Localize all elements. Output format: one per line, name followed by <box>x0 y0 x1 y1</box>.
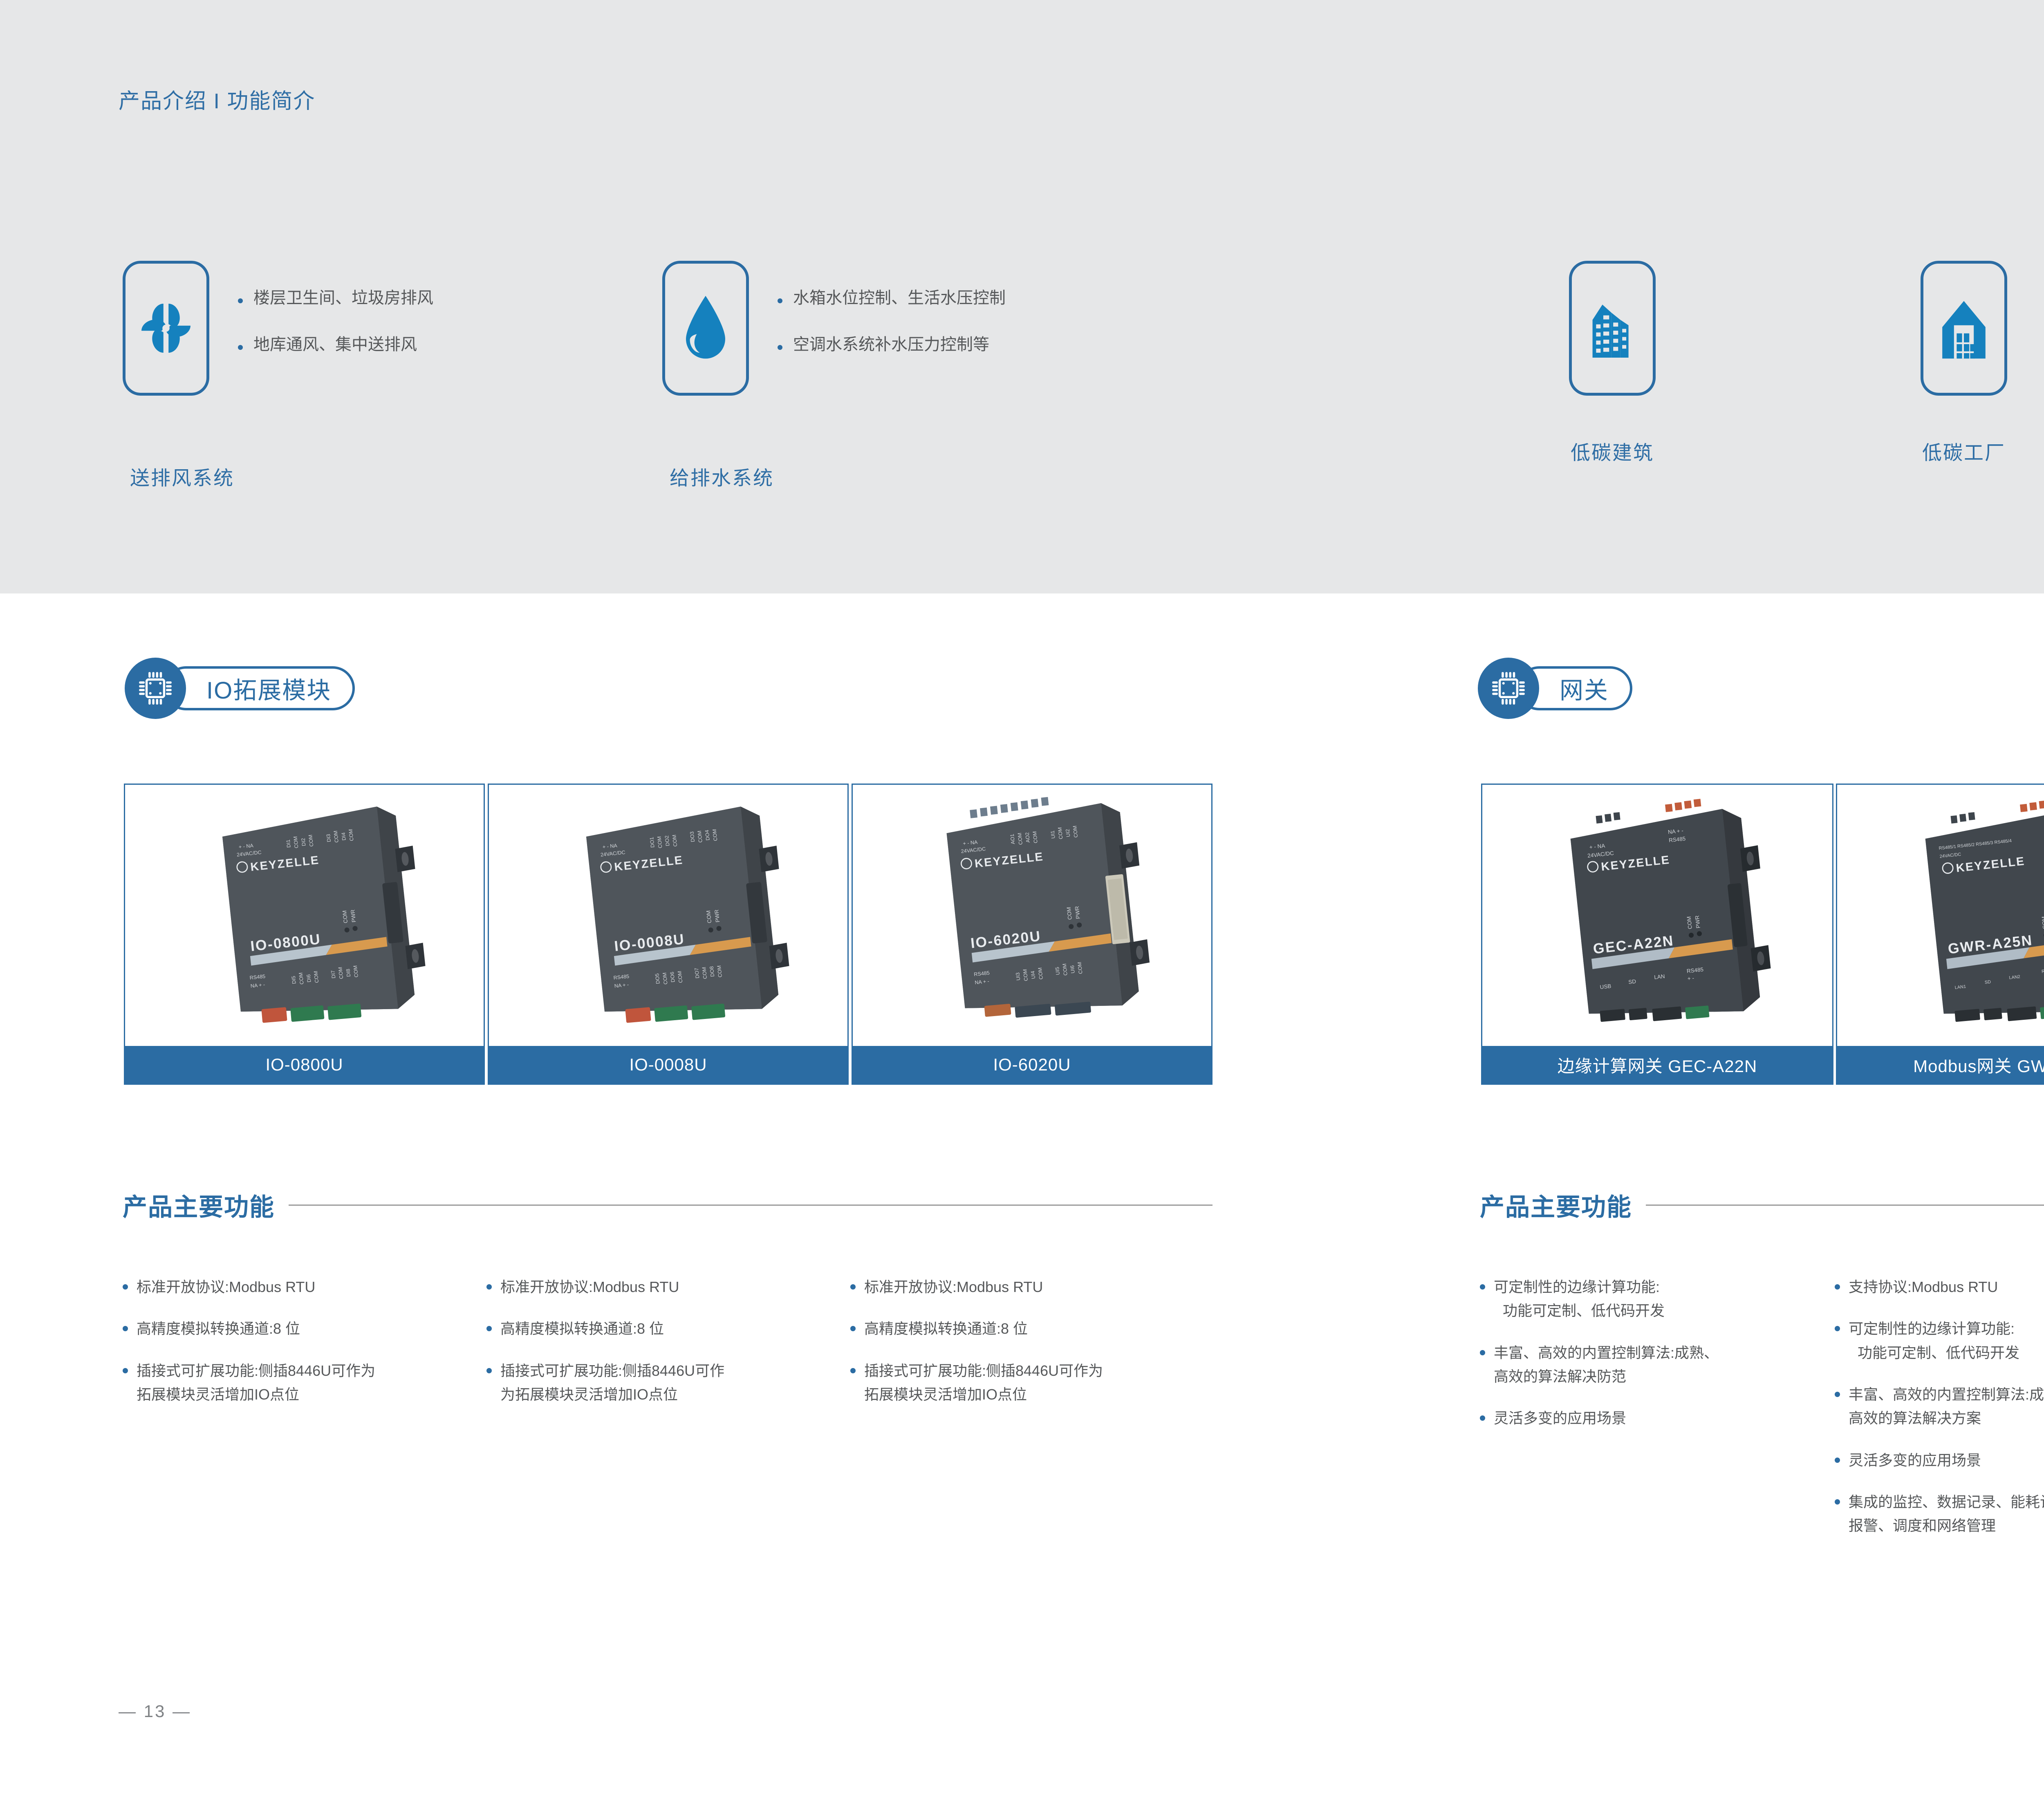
svg-text:COM: COM <box>313 971 320 983</box>
list-item: 高精度模拟转换通道:8 位 <box>123 1317 466 1341</box>
product-image: + - NA24VAC/DC DI1 COM DI2 COM DI3 COM D… <box>125 785 484 1046</box>
svg-text:DO7: DO7 <box>694 967 701 978</box>
svg-text:DI6: DI6 <box>306 974 312 983</box>
list-item: 丰富、高效的内置控制算法:成熟、 高效的算法解决方案 <box>1835 1383 2044 1431</box>
svg-text:COM: COM <box>293 836 300 849</box>
product-label: IO-6020U <box>853 1046 1211 1084</box>
list-item: 丰富、高效的内置控制算法:成熟、 高效的算法解决防范 <box>1480 1341 1815 1389</box>
list-item: 插接式可扩展功能:侧插8446U可作 为拓展模块灵活增加IO点位 <box>486 1359 830 1407</box>
section-badge-label: IO拓展模块 <box>206 671 331 705</box>
list-item: 高精度模拟转换通道:8 位 <box>486 1317 830 1341</box>
device-io-0008u: + - NA24VAC/DC DO1 COM DO2 COM DO3 COM D… <box>489 785 847 1046</box>
svg-text:DI5: DI5 <box>291 976 297 984</box>
svg-text:COM: COM <box>337 967 344 979</box>
product-label: IO-0008U <box>489 1046 847 1084</box>
svg-text:DO3: DO3 <box>689 831 696 842</box>
list-item: 插接式可扩展功能:侧插8446U可作为 拓展模块灵活增加IO点位 <box>850 1359 1194 1407</box>
svg-text:COM: COM <box>705 910 713 924</box>
list-item: 水箱水位控制、生活水压控制 <box>778 289 1006 307</box>
svg-text:COM: COM <box>701 967 708 979</box>
scenario-low-carbon-building: 低碳建筑 <box>1569 261 1656 465</box>
svg-text:DO2: DO2 <box>664 835 671 846</box>
svg-text:COM: COM <box>333 830 340 843</box>
svg-text:DI1: DI1 <box>285 840 292 848</box>
svg-text:COM: COM <box>1022 969 1029 981</box>
svg-text:UI3: UI3 <box>1015 972 1021 981</box>
svg-text:AO1: AO1 <box>1009 834 1016 845</box>
svg-text:COM: COM <box>662 972 669 985</box>
list-item: 楼层卫生间、垃圾房排风 <box>238 289 433 307</box>
application-group-ventilation: 楼层卫生间、垃圾房排风 地库通风、集中送排风 <box>123 261 433 396</box>
list-item: 支持协议:Modbus RTU <box>1835 1275 2044 1299</box>
svg-text:UI6: UI6 <box>1069 965 1076 974</box>
svg-text:COM: COM <box>677 971 684 983</box>
svg-text:COM: COM <box>352 965 359 978</box>
features-heading-io: 产品主要功能 <box>123 1187 1213 1223</box>
list-item: 可定制性的边缘计算功能: 功能可定制、低代码开发 <box>1480 1275 1815 1323</box>
device-gec-a22n: + - NA24VAC/DC NA + -RS485 USBSD LANRS48… <box>1482 785 1832 1046</box>
product-card[interactable]: + - NA24VAC/DC NA + -RS485 USBSD LANRS48… <box>1481 784 1833 1085</box>
svg-text:DI2: DI2 <box>300 838 307 846</box>
scenario-low-carbon-factory: 低碳工厂 <box>1921 261 2007 465</box>
product-image: + - NA24VAC/DC DO1 COM DO2 COM DO3 COM D… <box>489 785 847 1046</box>
svg-text:COM: COM <box>1066 907 1073 920</box>
feature-column-io-1: 标准开放协议:Modbus RTU 高精度模拟转换通道:8 位 插接式可扩展功能… <box>123 1275 466 1406</box>
product-card[interactable]: RS485/1 RS485/2 RS485/3 RS485/4 24VAC/DC… <box>1836 784 2044 1085</box>
factory-icon <box>1937 295 1991 362</box>
factory-icon-frame <box>1921 261 2007 396</box>
svg-text:COM: COM <box>712 829 719 842</box>
section-badge-gateway: 网关 <box>1478 650 1632 727</box>
product-label: IO-0800U <box>125 1046 484 1084</box>
product-image: + - NA24VAC/DC AO1 COM AO2 COM UI1 COM U… <box>853 785 1211 1046</box>
heading-rule <box>289 1205 1213 1206</box>
svg-text:+ -: + - <box>1687 975 1694 982</box>
svg-text:USB: USB <box>1600 983 1611 990</box>
svg-text:PWR: PWR <box>1074 906 1081 919</box>
svg-text:PWR: PWR <box>350 909 357 923</box>
list-item: 高精度模拟转换通道:8 位 <box>850 1317 1194 1341</box>
svg-text:COM: COM <box>1037 967 1044 980</box>
features-title: 产品主要功能 <box>1480 1187 1632 1223</box>
fan-icon <box>135 298 197 359</box>
office-building-icon-frame <box>1569 261 1656 396</box>
svg-text:COM: COM <box>307 834 314 847</box>
svg-text:UI5: UI5 <box>1054 967 1061 975</box>
feature-column-gateway-2: 支持协议:Modbus RTU 可定制性的边缘计算功能: 功能可定制、低代码开发… <box>1835 1275 2044 1538</box>
section-badge-io: IO拓展模块 <box>125 650 355 727</box>
chip-icon-circle <box>1478 658 1539 719</box>
svg-text:RS485: RS485 <box>2042 968 2044 974</box>
svg-text:AO2: AO2 <box>1024 832 1031 843</box>
device-io-0800u: + - NA24VAC/DC DI1 COM DI2 COM DI3 COM D… <box>125 785 484 1046</box>
product-image: + - NA24VAC/DC NA + -RS485 USBSD LANRS48… <box>1482 785 1832 1046</box>
svg-text:COM: COM <box>671 834 678 847</box>
list-item: 标准开放协议:Modbus RTU <box>850 1275 1194 1299</box>
office-building-icon <box>1585 295 1639 362</box>
svg-text:DI7: DI7 <box>330 970 336 978</box>
feature-column-io-2: 标准开放协议:Modbus RTU 高精度模拟转换通道:8 位 插接式可扩展功能… <box>486 1275 830 1406</box>
device-io-6020u: + - NA24VAC/DC AO1 COM AO2 COM UI1 COM U… <box>853 785 1211 1046</box>
water-drop-icon-frame <box>662 261 749 396</box>
product-card[interactable]: + - NA24VAC/DC AO1 COM AO2 COM UI1 COM U… <box>852 784 1213 1085</box>
svg-text:SD: SD <box>1628 978 1636 985</box>
heading-rule <box>1646 1205 2044 1206</box>
list-item: 灵活多变的应用场景 <box>1480 1406 1815 1430</box>
svg-text:COM: COM <box>1072 825 1079 838</box>
catalog-spread: 产品介绍 I 功能简介 产品介绍 I 功能简介 楼层卫生间、垃圾房排风 地库通风… <box>0 0 2044 1798</box>
feature-column-gateway-1: 可定制性的边缘计算功能: 功能可定制、低代码开发 丰富、高效的内置控制算法:成熟… <box>1480 1275 1815 1431</box>
water-drop-icon <box>681 294 730 363</box>
product-card[interactable]: + - NA24VAC/DC DO1 COM DO2 COM DO3 COM D… <box>488 784 849 1085</box>
svg-text:PWR: PWR <box>1694 915 1701 929</box>
feature-column-io-3: 标准开放协议:Modbus RTU 高精度模拟转换通道:8 位 插接式可扩展功能… <box>850 1275 1194 1406</box>
features-title: 产品主要功能 <box>123 1187 275 1223</box>
section-badge-pill: IO拓展模块 <box>164 666 355 710</box>
water-caption: 给排水系统 <box>670 462 774 490</box>
svg-text:LAN: LAN <box>1654 973 1665 981</box>
svg-text:COM: COM <box>1032 831 1039 844</box>
product-image: RS485/1 RS485/2 RS485/3 RS485/4 24VAC/DC… <box>1837 785 2044 1046</box>
product-label: 边缘计算网关 GEC-A22N <box>1482 1046 1832 1084</box>
svg-text:UI1: UI1 <box>1050 830 1056 839</box>
svg-text:UI4: UI4 <box>1030 971 1036 979</box>
svg-text:DO6: DO6 <box>669 972 676 983</box>
svg-text:DO5: DO5 <box>654 973 661 984</box>
scenario-caption: 低碳建筑 <box>1571 437 1654 465</box>
water-bullet-list: 水箱水位控制、生活水压控制 空调水系统补水压力控制等 <box>778 261 1006 353</box>
list-item: 地库通风、集中送排风 <box>238 336 433 353</box>
scenario-caption: 低碳工厂 <box>1922 437 2006 465</box>
fan-icon-frame <box>123 261 209 396</box>
svg-text:COM: COM <box>716 965 723 978</box>
svg-text:COM: COM <box>697 830 704 843</box>
svg-text:COM: COM <box>1077 962 1084 974</box>
list-item: 标准开放协议:Modbus RTU <box>486 1275 830 1299</box>
svg-text:COM: COM <box>348 829 355 842</box>
svg-text:COM: COM <box>1062 963 1069 976</box>
chip-icon-circle <box>125 658 186 719</box>
svg-text:DI8: DI8 <box>345 969 352 977</box>
product-label: Modbus网关 GWR-A25N <box>1837 1046 2044 1084</box>
list-item: 集成的监控、数据记录、能耗计量、 报警、调度和网络管理 <box>1835 1490 2044 1538</box>
features-heading-gateway: 产品主要功能 <box>1480 1187 2044 1223</box>
list-item: 灵活多变的应用场景 <box>1835 1449 2044 1472</box>
svg-text:UI2: UI2 <box>1065 829 1071 837</box>
svg-text:COM: COM <box>1017 833 1024 845</box>
svg-text:PWR: PWR <box>713 909 721 923</box>
chip-icon <box>1488 668 1529 708</box>
list-item: 空调水系统补水压力控制等 <box>778 336 1006 353</box>
svg-text:DI4: DI4 <box>341 832 347 841</box>
svg-text:COM: COM <box>1057 827 1064 840</box>
svg-text:DO1: DO1 <box>649 837 656 848</box>
list-item: 标准开放协议:Modbus RTU <box>123 1275 466 1299</box>
list-item: 插接式可扩展功能:侧插8446U可作为 拓展模块灵活增加IO点位 <box>123 1359 466 1407</box>
chip-icon <box>135 668 175 708</box>
product-card[interactable]: + - NA24VAC/DC DI1 COM DI2 COM DI3 COM D… <box>124 784 485 1085</box>
list-item: 可定制性的边缘计算功能: 功能可定制、低代码开发 <box>1835 1317 2044 1365</box>
svg-text:COM: COM <box>657 836 663 849</box>
svg-text:COM: COM <box>1686 916 1693 929</box>
device-gwr-a25n: RS485/1 RS485/2 RS485/3 RS485/4 24VAC/DC… <box>1837 785 2044 1046</box>
application-group-water: 水箱水位控制、生活水压控制 空调水系统补水压力控制等 <box>662 261 1006 396</box>
section-badge-label: 网关 <box>1560 671 1609 705</box>
running-header-left: 产品介绍 I 功能简介 <box>119 84 315 114</box>
svg-text:DO4: DO4 <box>704 830 711 841</box>
svg-text:DI3: DI3 <box>325 834 332 842</box>
svg-text:SD: SD <box>1984 979 1991 985</box>
ventilation-caption: 送排风系统 <box>130 462 234 490</box>
page-number-left: — 13 — <box>119 1702 191 1721</box>
svg-text:DO8: DO8 <box>709 966 716 977</box>
ventilation-bullet-list: 楼层卫生间、垃圾房排风 地库通风、集中送排风 <box>238 261 433 353</box>
svg-text:COM: COM <box>298 972 305 985</box>
svg-text:COM: COM <box>341 910 349 924</box>
